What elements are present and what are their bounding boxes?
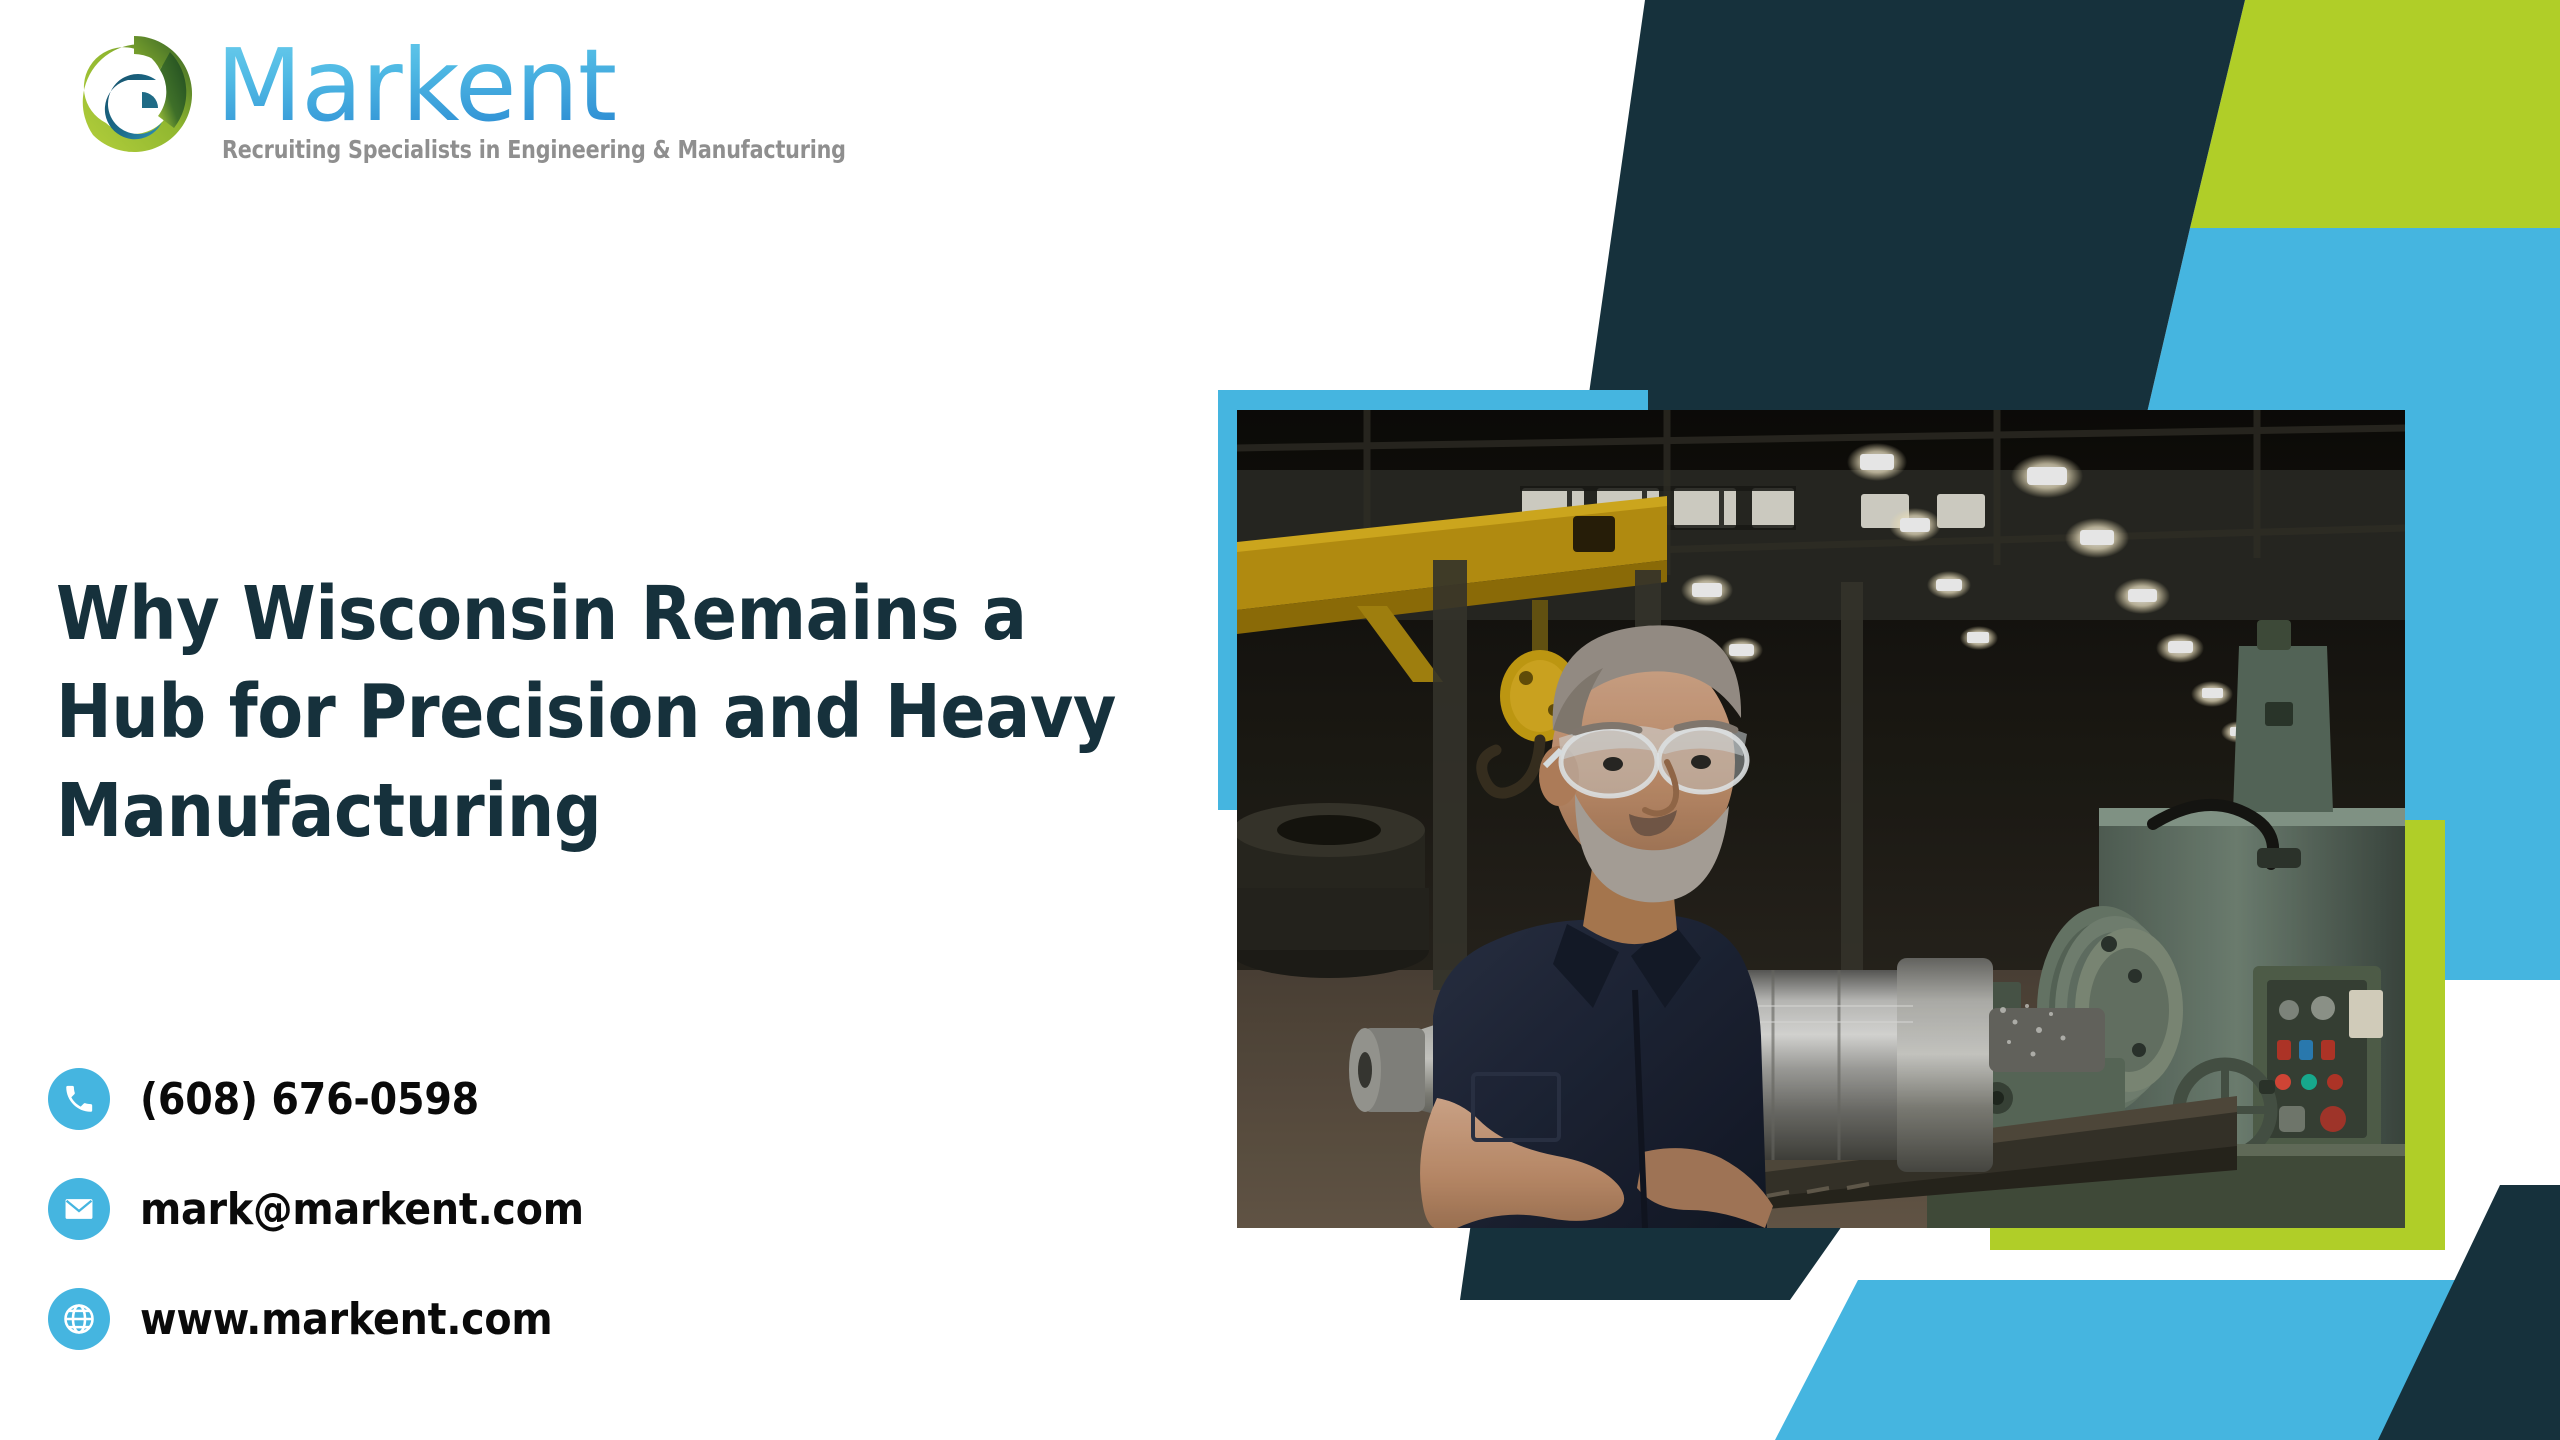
email-icon — [48, 1178, 110, 1240]
bottom-blue-parallelogram — [1775, 1280, 2560, 1440]
phone-icon — [48, 1068, 110, 1130]
contact-list: (608) 676-0598 mark@markent.com www.mark… — [48, 1068, 584, 1350]
top-right-blue-block — [2015, 228, 2560, 980]
top-navy-hexagon — [1460, 0, 2245, 1300]
contact-row-phone[interactable]: (608) 676-0598 — [48, 1068, 584, 1130]
top-right-lime-block — [2190, 0, 2560, 228]
svg-text:Markent: Markent — [216, 36, 616, 141]
photo-frame-lime — [1990, 820, 2445, 1250]
bottom-right-navy-wedge — [2378, 1185, 2560, 1440]
markent-swirl-logo-icon — [70, 30, 198, 158]
contact-row-email[interactable]: mark@markent.com — [48, 1178, 584, 1240]
brand-logo[interactable]: Markent Recruiting Specialists in Engine… — [70, 30, 900, 164]
page-title: Why Wisconsin Remains a Hub for Precisio… — [56, 565, 1186, 860]
email-address: mark@markent.com — [140, 1184, 584, 1235]
phone-number: (608) 676-0598 — [140, 1074, 479, 1125]
globe-icon — [48, 1288, 110, 1350]
brand-tagline: Recruiting Specialists in Engineering & … — [222, 135, 846, 164]
hero-photo — [1237, 410, 2405, 1228]
website-url: www.markent.com — [140, 1294, 552, 1345]
contact-row-website[interactable]: www.markent.com — [48, 1288, 584, 1350]
photo-frame-blue — [1218, 390, 1648, 810]
brand-wordmark: Markent — [216, 36, 786, 141]
